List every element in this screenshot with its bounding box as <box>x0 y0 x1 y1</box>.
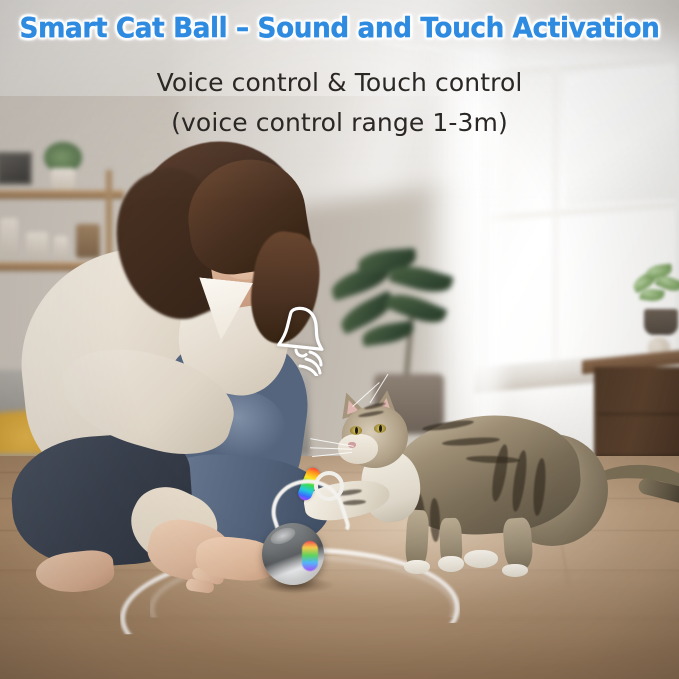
cat-eye-left <box>350 426 362 435</box>
subtitle-line-1: Voice control & Touch control <box>0 63 679 104</box>
cat-paw-1 <box>404 560 430 574</box>
cat-hind-leg <box>502 517 534 571</box>
sill-pot <box>644 309 678 335</box>
ball-led-strip <box>302 541 318 571</box>
poster-text-overlay: Smart Cat Ball – Sound and Touch Activat… <box>0 0 679 144</box>
subtitle-line-2: (voice control range 1-3m) <box>0 103 679 144</box>
subtitle-block: Voice control & Touch control (voice con… <box>0 63 679 144</box>
cat-paw-4 <box>502 564 528 577</box>
cat-eye-right <box>374 424 386 433</box>
smart-cat-ball <box>258 465 378 590</box>
page-title: Smart Cat Ball – Sound and Touch Activat… <box>15 14 663 43</box>
sill-potted-plant <box>630 265 679 335</box>
product-poster: Smart Cat Ball – Sound and Touch Activat… <box>0 0 679 679</box>
cat-paw-2 <box>438 556 464 572</box>
cat-paw-3 <box>464 550 498 568</box>
